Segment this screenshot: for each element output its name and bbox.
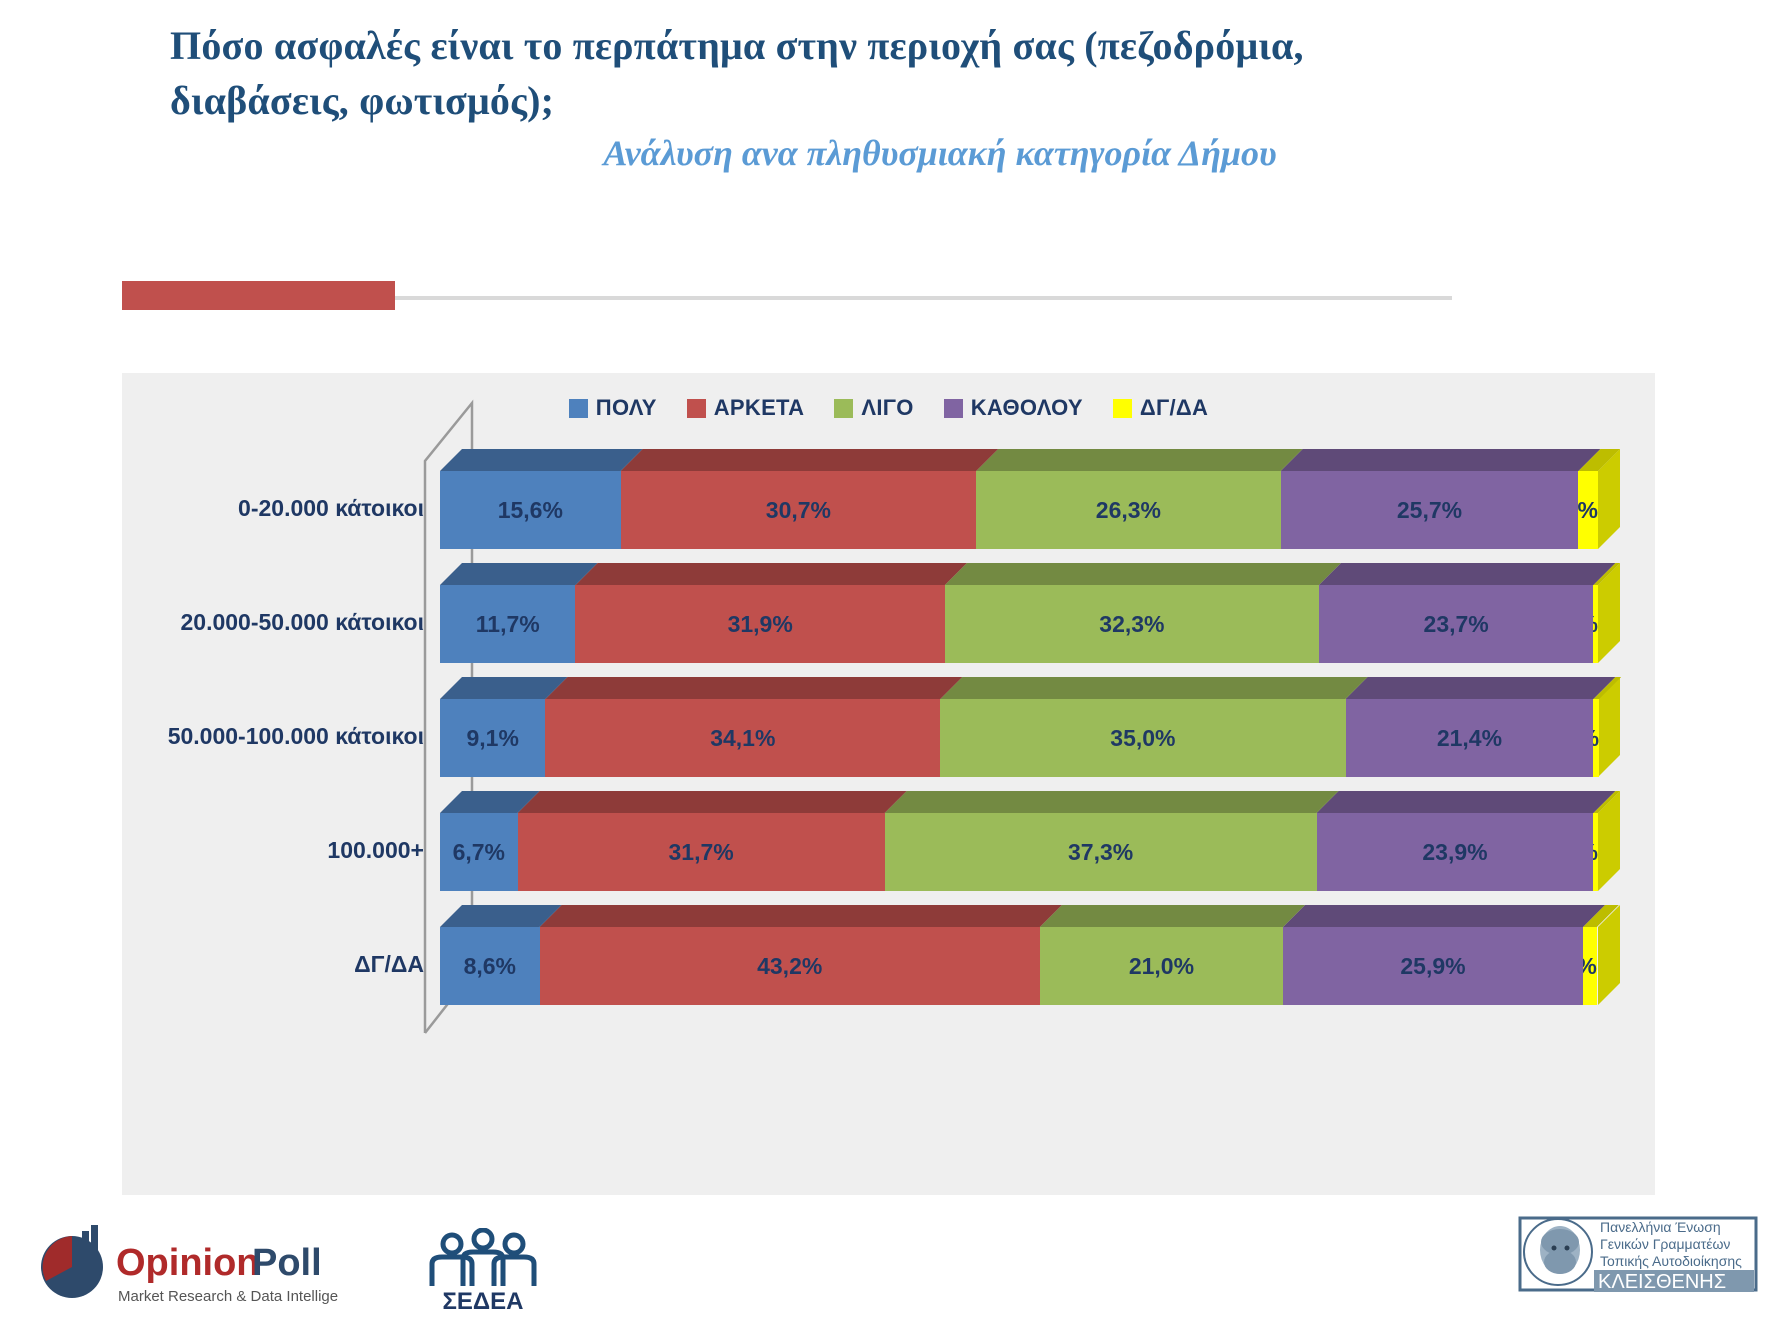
accent-bar (122, 281, 395, 310)
bar-segment[interactable]: 8,6% (440, 927, 540, 1005)
bar-segment-top-face (1281, 449, 1601, 471)
bar-value-label: 35,0% (940, 699, 1345, 777)
bar-segment[interactable]: 31,9% (575, 585, 944, 663)
bar-segment[interactable]: 1,2% (1583, 927, 1597, 1005)
bar-segment[interactable]: 32,3% (945, 585, 1319, 663)
logo-sedea: ΣΕΔΕΑ (418, 1228, 548, 1316)
bar-value-label: 0,4% (1593, 813, 1600, 891)
bar-segment-top-face (440, 449, 643, 471)
bar-value-label: 25,7% (1281, 471, 1579, 549)
bar-segment[interactable]: 1,7% (1578, 471, 1598, 549)
bar-row: 11,7%31,9%32,3%23,7%0,4% (440, 585, 1598, 663)
kleisthenis-line-2: Γενικών Γραμματέων (1600, 1236, 1730, 1252)
bar-segment-top-face (518, 791, 907, 813)
bar-value-label: 43,2% (540, 927, 1040, 1005)
bar-value-label: 32,3% (945, 585, 1319, 663)
bar-row: 8,6%43,2%21,0%25,9%1,2% (440, 927, 1598, 1005)
bar-value-label: 31,9% (575, 585, 944, 663)
bar-segment-top-face (621, 449, 999, 471)
bar-segment[interactable]: 30,7% (621, 471, 977, 549)
title-line-1: Πόσο ασφαλές είναι το περπάτημα στην περ… (170, 18, 1650, 73)
bar-segment[interactable]: 11,7% (440, 585, 575, 663)
bar-segment[interactable]: 25,9% (1283, 927, 1583, 1005)
bar-segment-top-face (575, 563, 966, 585)
bar-value-label: 11,7% (440, 585, 575, 663)
opinionpoll-mark (41, 1225, 103, 1298)
bar-value-label: 8,6% (440, 927, 540, 1005)
bar-value-label: 0,4% (1593, 585, 1600, 663)
sedea-wordmark: ΣΕΔΕΑ (443, 1288, 524, 1315)
category-label-3: 100.000+ (134, 837, 424, 864)
bar-segment-top-face (885, 791, 1339, 813)
bar-value-label: 23,7% (1319, 585, 1593, 663)
plot-area: 0-20.000 κάτοικοι15,6%30,7%26,3%25,7%1,7… (122, 373, 1655, 1195)
bar-row: 15,6%30,7%26,3%25,7%1,7% (440, 471, 1598, 549)
title-subtitle: Ανάλυση ανα πληθυσμιακή κατηγορία Δήμου (170, 132, 1650, 174)
bar-segment-top-face (1283, 905, 1605, 927)
bar-segment[interactable]: 31,7% (518, 813, 885, 891)
bar-segment[interactable]: 9,1% (440, 699, 545, 777)
bar-segment[interactable]: 37,3% (885, 813, 1317, 891)
bar-value-label: 30,7% (621, 471, 977, 549)
bar-value-label: 23,9% (1317, 813, 1594, 891)
bar-value-label: 0,5% (1593, 699, 1601, 777)
bar-value-label: 21,0% (1040, 927, 1283, 1005)
bar-value-label: 15,6% (440, 471, 621, 549)
logo-kleisthenis: Πανελλήνια Ένωση Γενικών Γραμματέων Τοπι… (1518, 1216, 1758, 1316)
bar-value-label: 9,1% (440, 699, 545, 777)
bar-segment-top-face (945, 563, 1341, 585)
bar-value-label: 37,3% (885, 813, 1317, 891)
page-title: Πόσο ασφαλές είναι το περπάτημα στην περ… (170, 18, 1650, 174)
bar-segment[interactable]: 25,7% (1281, 471, 1579, 549)
bar-segment-top-face (540, 905, 1062, 927)
bar-segment[interactable]: 21,0% (1040, 927, 1283, 1005)
category-label-4: ΔΓ/ΔΑ (134, 951, 424, 978)
bar-value-label: 25,9% (1283, 927, 1583, 1005)
bar-segment[interactable]: 35,0% (940, 699, 1345, 777)
bar-segment[interactable]: 43,2% (540, 927, 1040, 1005)
opinionpoll-tagline: Market Research & Data Intelligence (118, 1288, 338, 1305)
bar-segment-top-face (1319, 563, 1615, 585)
bar-segment-top-face (440, 677, 567, 699)
bar-row: 6,7%31,7%37,3%23,9%0,4% (440, 813, 1598, 891)
bar-value-label: 26,3% (976, 471, 1281, 549)
bar-segment[interactable]: 6,7% (440, 813, 518, 891)
bar-segment[interactable]: 23,9% (1317, 813, 1594, 891)
bar-segment-top-face (940, 677, 1367, 699)
bar-value-label: 34,1% (545, 699, 940, 777)
title-line-2: διαβάσεις, φωτισμός); (170, 73, 1650, 128)
bar-segment-top-face (1346, 677, 1616, 699)
category-label-1: 20.000-50.000 κάτοικοι (134, 609, 424, 636)
bar-segment-top-face (440, 563, 597, 585)
bar-value-label: 31,7% (518, 813, 885, 891)
bar-segment[interactable]: 26,3% (976, 471, 1281, 549)
bar-segment[interactable]: 34,1% (545, 699, 940, 777)
bar-value-label: 6,7% (440, 813, 518, 891)
kleisthenis-portrait (1524, 1219, 1592, 1285)
bar-segment-top-face (976, 449, 1303, 471)
category-label-0: 0-20.000 κάτοικοι (134, 495, 424, 522)
chart-panel: ΠΟΛΥΑΡΚΕΤΑΛΙΓΟΚΑΘΟΛΟΥΔΓ/ΔΑ 0-20.000 κάτο… (122, 373, 1655, 1195)
bar-value-label: 21,4% (1346, 699, 1594, 777)
bar-value-label: 1,7% (1578, 471, 1600, 549)
bar-row: 9,1%34,1%35,0%21,4%0,5% (440, 699, 1598, 777)
bar-segment[interactable]: 0,4% (1593, 585, 1598, 663)
kleisthenis-wordmark: ΚΛΕΙΣΘΕΝΗΣ (1598, 1271, 1726, 1293)
bar-segment-top-face (1040, 905, 1305, 927)
bar-segment-top-face (1317, 791, 1616, 813)
opinionpoll-word-2: Poll (252, 1242, 322, 1284)
accent-divider (122, 296, 1452, 300)
bar-segment[interactable]: 21,4% (1346, 699, 1594, 777)
bar-segment[interactable]: 0,5% (1593, 699, 1599, 777)
kleisthenis-line-3: Τοπικής Αυτοδιοίκησης (1600, 1253, 1742, 1269)
opinionpoll-word-1: Opinion (116, 1242, 260, 1284)
bar-value-label: 1,2% (1583, 927, 1599, 1005)
kleisthenis-line-1: Πανελλήνια Ένωση (1600, 1219, 1721, 1235)
category-label-2: 50.000-100.000 κάτοικοι (134, 723, 424, 750)
logo-opinionpoll: Opinion Poll Market Research & Data Inte… (38, 1225, 338, 1317)
bar-segment[interactable]: 23,7% (1319, 585, 1593, 663)
bar-segment[interactable]: 0,4% (1593, 813, 1598, 891)
bar-segment-top-face (545, 677, 962, 699)
bar-segment[interactable]: 15,6% (440, 471, 621, 549)
